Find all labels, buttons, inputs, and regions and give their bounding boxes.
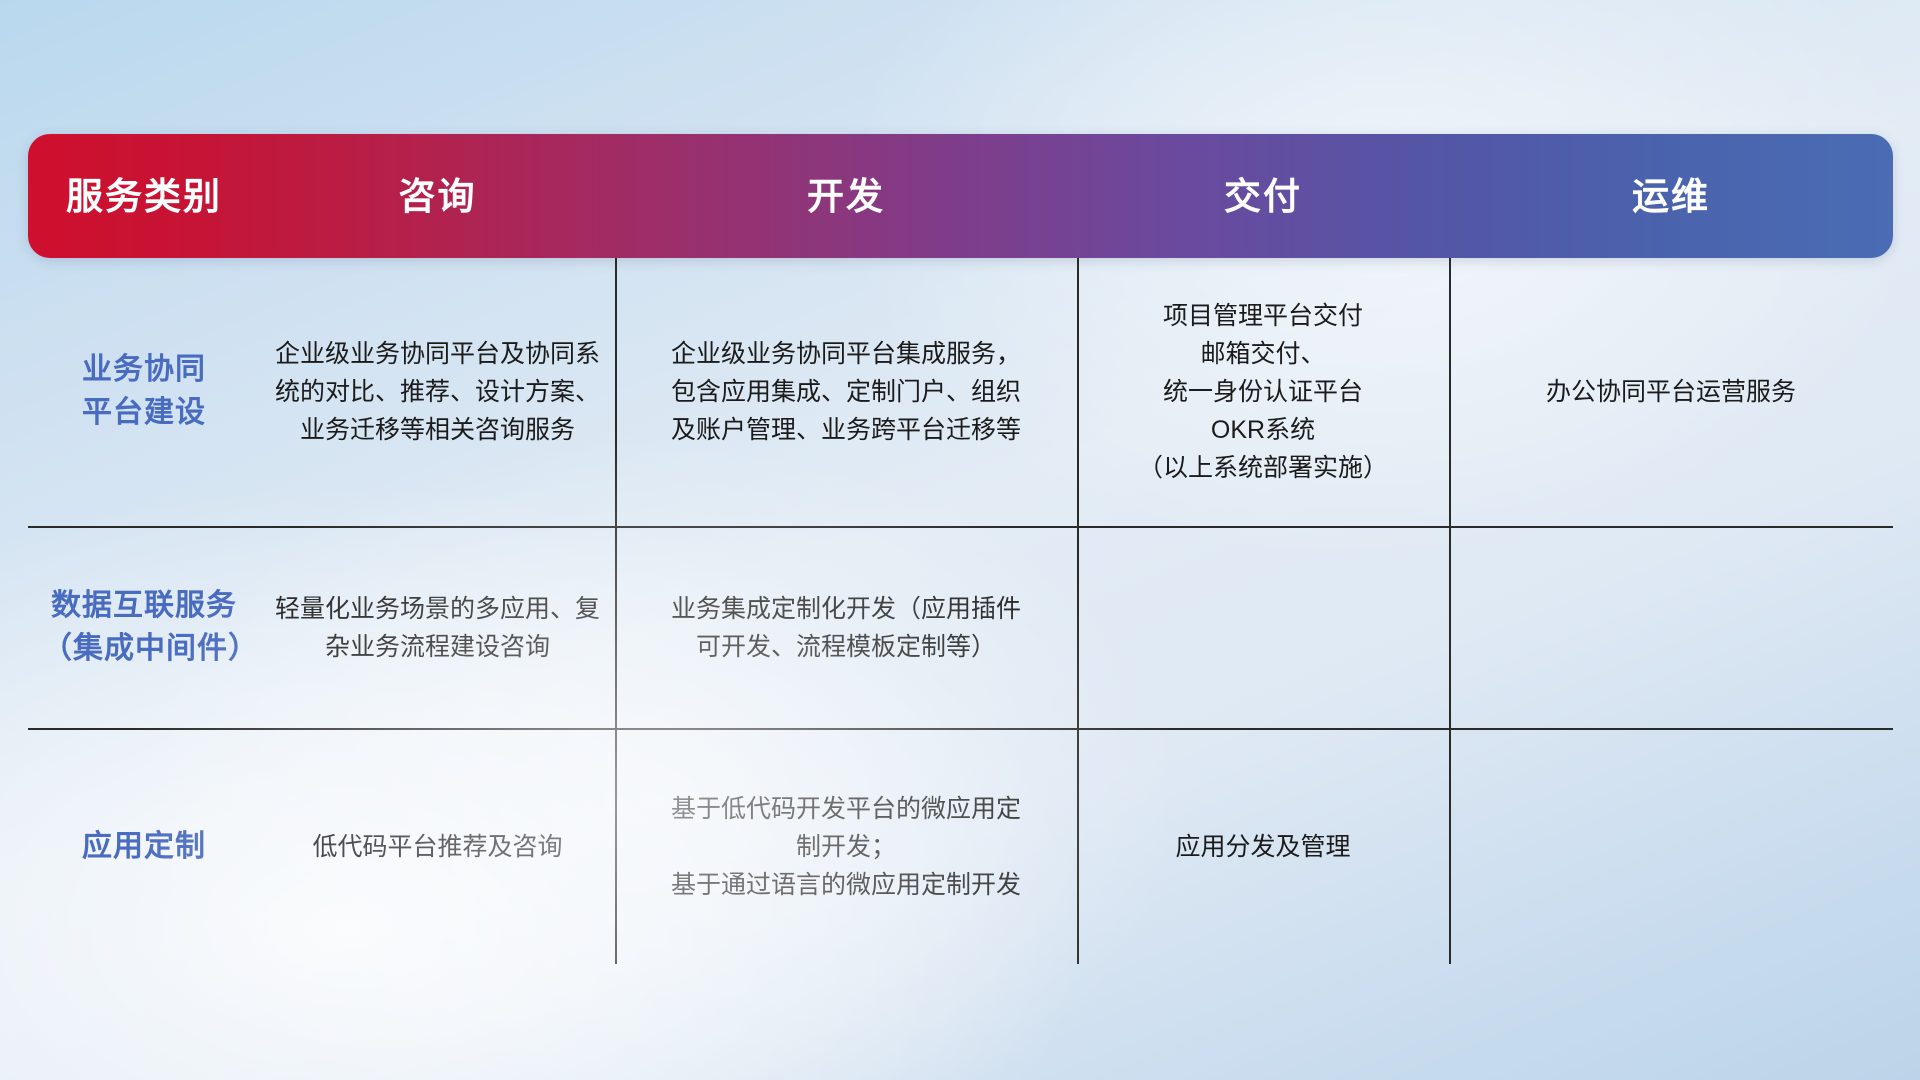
table-row: 数据互联服务 （集成中间件） 轻量化业务场景的多应用、复 杂业务流程建设咨询 业… (28, 526, 1893, 728)
cell-text: 业务集成定制化开发（应用插件 可开发、流程模板定制等） (671, 590, 1021, 666)
column-header-development: 开发 (615, 178, 1077, 215)
cell-development: 基于低代码开发平台的微应用定 制开发； 基于通过语言的微应用定制开发 (615, 730, 1077, 964)
row-label: 数据互联服务 （集成中间件） (42, 585, 246, 670)
cell-development: 业务集成定制化开发（应用插件 可开发、流程模板定制等） (615, 528, 1077, 728)
cell-text: 项目管理平台交付 邮箱交付、 统一身份认证平台 OKR系统 （以上系统部署实施） (1138, 297, 1388, 487)
table-row: 业务协同 平台建设 企业级业务协同平台及协同系 统的对比、推荐、设计方案、 业务… (28, 258, 1893, 526)
cell-text: 应用分发及管理 (1175, 828, 1350, 866)
cell-delivery (1077, 528, 1449, 728)
row-header-cell: 应用定制 (28, 730, 260, 964)
cell-operations (1449, 730, 1893, 964)
cell-consulting: 低代码平台推荐及咨询 (260, 730, 615, 964)
table-header-row: 服务类别 咨询 开发 交付 运维 (28, 134, 1893, 258)
column-header-consulting: 咨询 (260, 178, 615, 215)
cell-text: 企业级业务协同平台集成服务， 包含应用集成、定制门户、组织 及账户管理、业务跨平… (671, 335, 1021, 449)
cell-development: 企业级业务协同平台集成服务， 包含应用集成、定制门户、组织 及账户管理、业务跨平… (615, 258, 1077, 526)
row-label: 业务协同 平台建设 (82, 349, 206, 434)
cell-text: 企业级业务协同平台及协同系 统的对比、推荐、设计方案、 业务迁移等相关咨询服务 (275, 335, 600, 449)
cell-operations (1449, 528, 1893, 728)
column-header-operations: 运维 (1449, 178, 1893, 215)
column-header-service-category: 服务类别 (28, 178, 260, 215)
row-header-cell: 业务协同 平台建设 (28, 258, 260, 526)
service-matrix-table: 服务类别 咨询 开发 交付 运维 业务协同 平台建设 企业级业务协同平台及协同系… (28, 134, 1893, 962)
cell-text: 办公协同平台运营服务 (1546, 373, 1796, 411)
cell-consulting: 轻量化业务场景的多应用、复 杂业务流程建设咨询 (260, 528, 615, 728)
row-label: 应用定制 (82, 826, 206, 869)
cell-delivery: 项目管理平台交付 邮箱交付、 统一身份认证平台 OKR系统 （以上系统部署实施） (1077, 258, 1449, 526)
cell-text: 基于低代码开发平台的微应用定 制开发； 基于通过语言的微应用定制开发 (671, 790, 1021, 904)
column-header-delivery: 交付 (1077, 178, 1449, 215)
cell-delivery: 应用分发及管理 (1077, 730, 1449, 964)
cell-text: 轻量化业务场景的多应用、复 杂业务流程建设咨询 (275, 590, 600, 666)
cell-consulting: 企业级业务协同平台及协同系 统的对比、推荐、设计方案、 业务迁移等相关咨询服务 (260, 258, 615, 526)
slide-canvas: 服务类别 咨询 开发 交付 运维 业务协同 平台建设 企业级业务协同平台及协同系… (0, 0, 1920, 1080)
cell-text: 低代码平台推荐及咨询 (312, 828, 562, 866)
cell-operations: 办公协同平台运营服务 (1449, 258, 1893, 526)
table-row: 应用定制 低代码平台推荐及咨询 基于低代码开发平台的微应用定 制开发； 基于通过… (28, 728, 1893, 964)
row-header-cell: 数据互联服务 （集成中间件） (28, 528, 260, 728)
table-body: 业务协同 平台建设 企业级业务协同平台及协同系 统的对比、推荐、设计方案、 业务… (28, 258, 1893, 962)
